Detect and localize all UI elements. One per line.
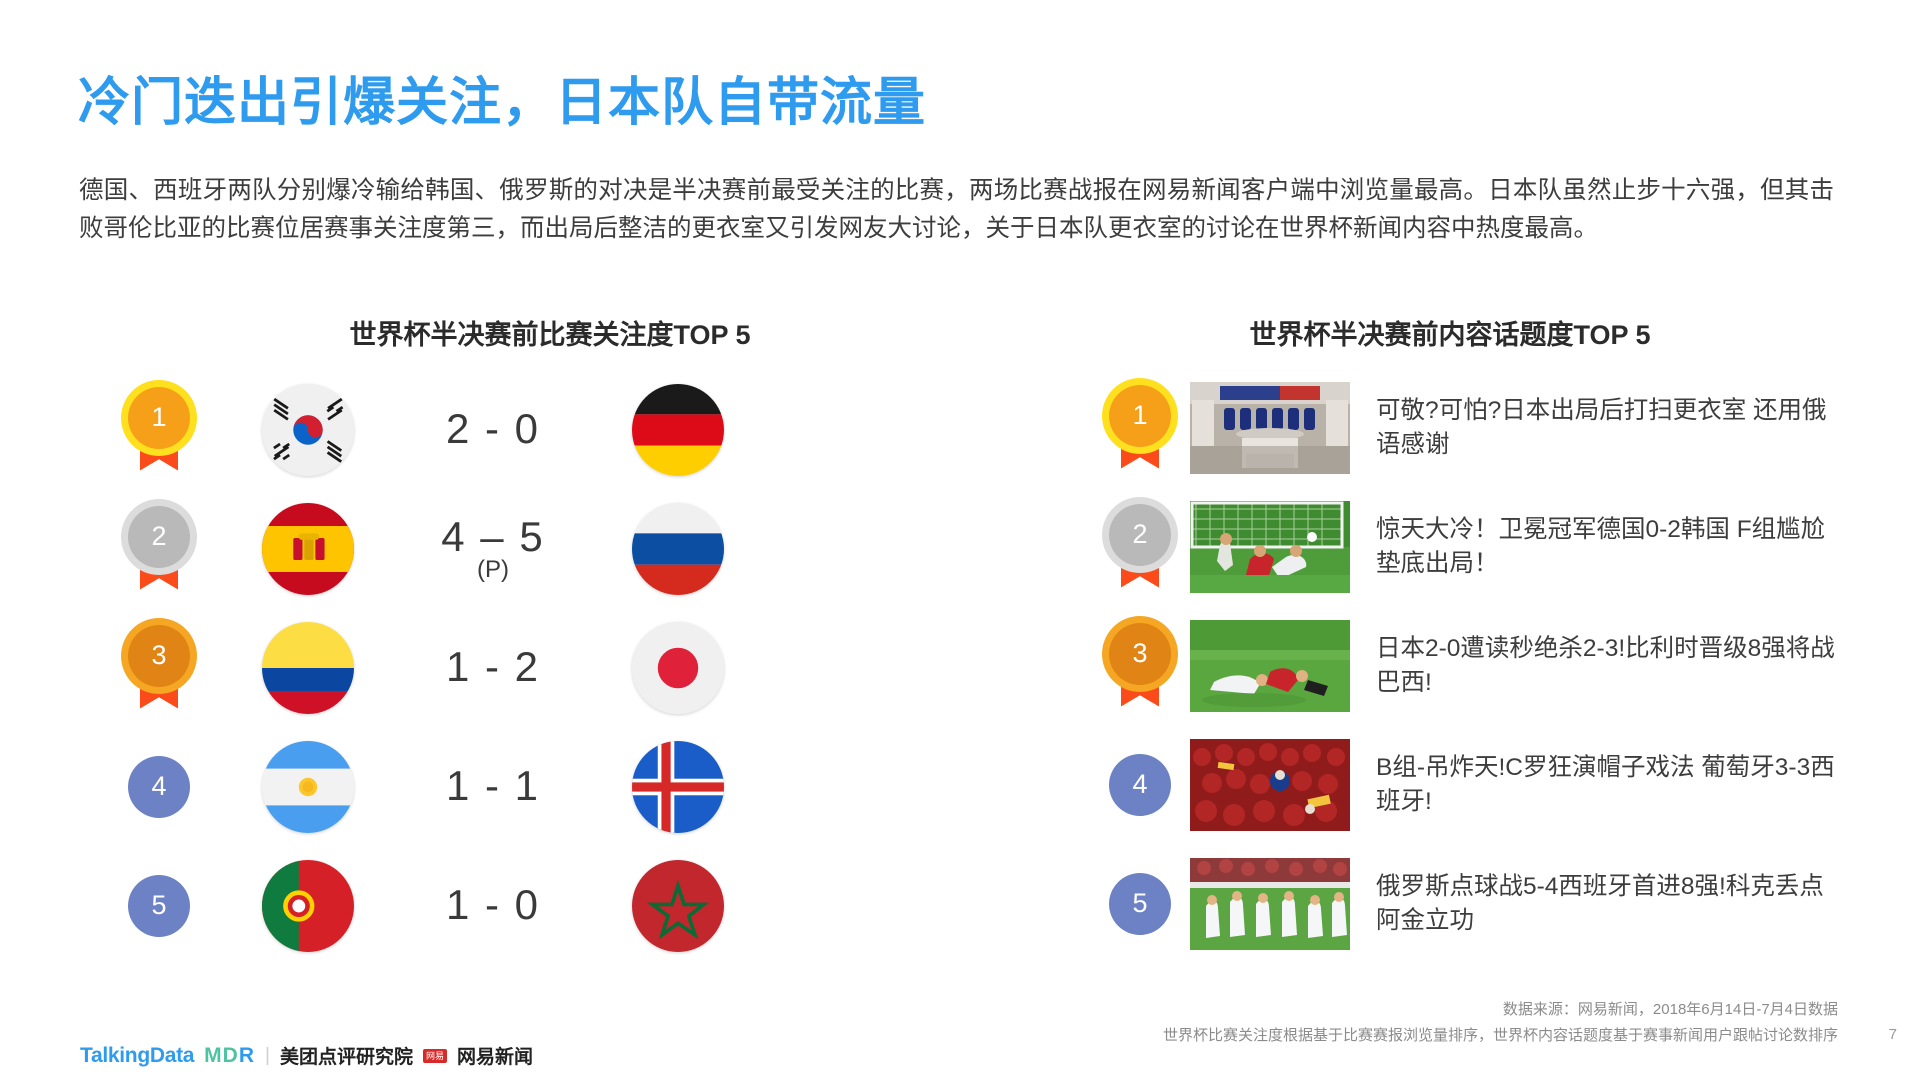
meituan-research-logo: 美团点评研究院 — [280, 1042, 413, 1069]
flag-japan-icon — [632, 622, 724, 714]
talkingdata-logo: TalkingData — [80, 1044, 194, 1068]
team-a-flag-cell — [218, 622, 398, 714]
team-a-flag-cell — [218, 860, 398, 952]
match-rank-cell: 5 — [100, 875, 218, 937]
medal-disc: 2 — [128, 506, 190, 568]
news-thumbnail[interactable] — [1190, 739, 1350, 831]
team-a-flag-cell — [218, 741, 398, 833]
medal-disc: 3 — [128, 625, 190, 687]
rank-medal-icon: 1 — [1109, 385, 1171, 471]
news-row[interactable]: 5 俄罗斯点球战5-4西班牙首进8强!科克丢点阿金立功 — [1090, 844, 1910, 963]
rank-badge-plain: 5 — [1109, 873, 1171, 935]
flag-spain-icon — [262, 503, 354, 595]
news-row[interactable]: 3 日本2-0遭读秒绝杀2-3!比利时晋级8强将战巴西! — [1090, 606, 1910, 725]
rank-medal-icon: 3 — [1109, 623, 1171, 709]
match-row: 3 1 - 2 — [100, 608, 930, 727]
news-rank-cell: 2 — [1090, 504, 1190, 590]
footer-logos: TalkingData MDR | 美团点评研究院 网易 网易新闻 — [80, 1042, 533, 1069]
match-row: 2 4 – 5(P) — [100, 489, 930, 608]
flag-morocco-icon — [632, 860, 724, 952]
match-rank-cell: 3 — [100, 625, 218, 711]
rank-badge-plain: 5 — [128, 875, 190, 937]
rank-badge-plain: 4 — [128, 756, 190, 818]
team-b-flag-cell — [588, 741, 768, 833]
news-headline[interactable]: 惊天大冷！卫冕冠军德国0-2韩国 F组尴尬垫底出局！ — [1376, 513, 1846, 581]
flag-germany-icon — [632, 384, 724, 476]
rank-badge-plain: 4 — [1109, 754, 1171, 816]
flag-portugal-icon — [262, 860, 354, 952]
team-a-flag-cell — [218, 503, 398, 595]
match-score: 1 - 1 — [398, 764, 588, 808]
page-number: 7 — [1889, 1026, 1897, 1043]
netease-news-logo: 网易新闻 — [457, 1042, 533, 1069]
match-score: 4 – 5(P) — [398, 515, 588, 582]
news-ranking-list: 1 可敬?可怕?日本出局后打扫更衣室 还用俄语感谢2 惊天大冷！卫冕冠军德国0-… — [1090, 368, 1910, 963]
match-score: 1 - 2 — [398, 645, 588, 689]
news-headline[interactable]: 俄罗斯点球战5-4西班牙首进8强!科克丢点阿金立功 — [1376, 870, 1846, 938]
team-a-flag-cell — [218, 384, 398, 476]
news-rank-cell: 5 — [1090, 873, 1190, 935]
news-thumbnail[interactable] — [1190, 382, 1350, 474]
flag-colombia-icon — [262, 622, 354, 714]
medal-disc: 1 — [128, 387, 190, 449]
flag-argentina-icon — [262, 741, 354, 833]
medal-disc: 3 — [1109, 623, 1171, 685]
rank-medal-icon: 1 — [128, 387, 190, 473]
team-b-flag-cell — [588, 503, 768, 595]
news-row[interactable]: 1 可敬?可怕?日本出局后打扫更衣室 还用俄语感谢 — [1090, 368, 1910, 487]
news-thumbnail[interactable] — [1190, 858, 1350, 950]
rank-medal-icon: 2 — [1109, 504, 1171, 590]
rank-medal-icon: 3 — [128, 625, 190, 711]
match-row: 4 1 - 1 — [100, 727, 930, 846]
rank-medal-icon: 2 — [128, 506, 190, 592]
medal-disc: 1 — [1109, 385, 1171, 447]
mdr-logo: MDR — [204, 1044, 255, 1068]
match-rank-cell: 1 — [100, 387, 218, 473]
flag-russia-icon — [632, 503, 724, 595]
flag-korea-icon — [262, 384, 354, 476]
news-row[interactable]: 4 B组-吊炸天!C罗狂演帽子戏法 葡萄牙3-3西班牙! — [1090, 725, 1910, 844]
match-score-note: (P) — [398, 557, 588, 582]
match-row: 5 1 - 0 — [100, 846, 930, 965]
news-rank-cell: 1 — [1090, 385, 1190, 471]
match-rank-cell: 2 — [100, 506, 218, 592]
left-section-heading: 世界杯半决赛前比赛关注度TOP 5 — [0, 313, 1100, 352]
news-thumbnail[interactable] — [1190, 501, 1350, 593]
flag-iceland-icon — [632, 741, 724, 833]
netease-mark-icon: 网易 — [423, 1049, 447, 1063]
news-rank-cell: 4 — [1090, 754, 1190, 816]
match-row: 1 2 - 0 — [100, 370, 930, 489]
page-title: 冷门迭出引爆关注，日本队自带流量 — [78, 60, 926, 135]
data-source-note: 数据来源：网易新闻，2018年6月14日-7月4日数据 世界杯比赛关注度根据基于… — [838, 997, 1838, 1049]
source-line-2: 世界杯比赛关注度根据基于比赛赛报浏览量排序，世界杯内容话题度基于赛事新闻用户跟帖… — [838, 1023, 1838, 1049]
team-b-flag-cell — [588, 384, 768, 476]
team-b-flag-cell — [588, 622, 768, 714]
logo-divider: | — [265, 1045, 270, 1067]
right-section-heading: 世界杯半决赛前内容话题度TOP 5 — [980, 313, 1920, 352]
team-b-flag-cell — [588, 860, 768, 952]
medal-disc: 2 — [1109, 504, 1171, 566]
match-ranking-list: 1 2 - 0 2 4 – 5(P) 3 1 - — [100, 370, 930, 965]
slide-root: 冷门迭出引爆关注，日本队自带流量 德国、西班牙两队分别爆冷输给韩国、俄罗斯的对决… — [0, 0, 1921, 1080]
news-row[interactable]: 2 惊天大冷！卫冕冠军德国0-2韩国 F组尴尬垫底出局！ — [1090, 487, 1910, 606]
match-score: 1 - 0 — [398, 883, 588, 927]
match-rank-cell: 4 — [100, 756, 218, 818]
news-thumbnail[interactable] — [1190, 620, 1350, 712]
intro-paragraph: 德国、西班牙两队分别爆冷输给韩国、俄罗斯的对决是半决赛前最受关注的比赛，两场比赛… — [79, 172, 1834, 248]
match-score: 2 - 0 — [398, 407, 588, 451]
news-headline[interactable]: 可敬?可怕?日本出局后打扫更衣室 还用俄语感谢 — [1376, 394, 1846, 462]
news-headline[interactable]: B组-吊炸天!C罗狂演帽子戏法 葡萄牙3-3西班牙! — [1376, 751, 1846, 819]
news-rank-cell: 3 — [1090, 623, 1190, 709]
source-line-1: 数据来源：网易新闻，2018年6月14日-7月4日数据 — [838, 997, 1838, 1023]
news-headline[interactable]: 日本2-0遭读秒绝杀2-3!比利时晋级8强将战巴西! — [1376, 632, 1846, 700]
